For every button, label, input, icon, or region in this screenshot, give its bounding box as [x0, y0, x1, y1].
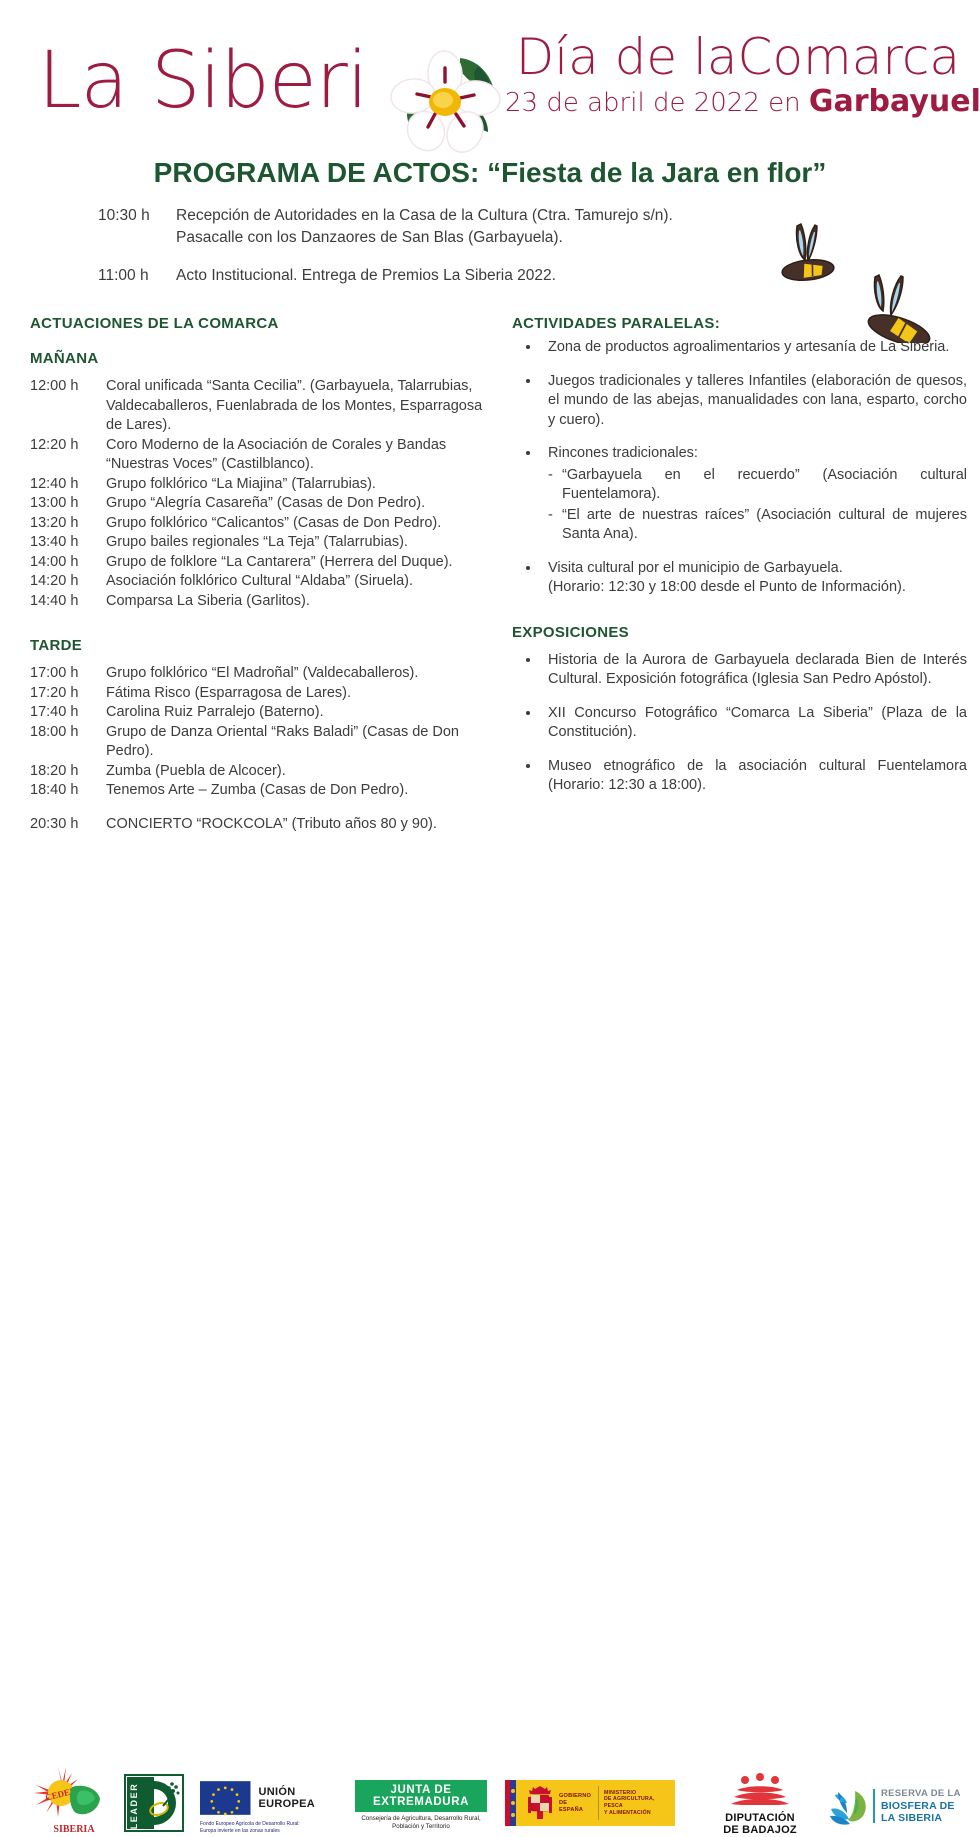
- section-heading-actividades: ACTIVIDADES PARALELAS:: [512, 315, 967, 332]
- schedule-desc: Grupo de folklore “La Cantarera” (Herrer…: [106, 553, 490, 573]
- schedule-time: 10:30 h: [98, 205, 176, 249]
- ministerio-line2: DE AGRICULTURA, PESCA: [604, 1796, 675, 1809]
- dash-icon: -: [548, 506, 553, 526]
- list-item: Juegos tradicionales y talleres Infantil…: [512, 372, 967, 431]
- schedule-row: 12:20 hCoro Moderno de la Asociación de …: [30, 436, 490, 475]
- subsection-heading-morning: MAÑANA: [30, 350, 490, 367]
- subsection-heading-afternoon: TARDE: [30, 637, 490, 654]
- schedule-time: 13:20 h: [30, 514, 106, 534]
- junta-extremadura-logo: JUNTA DE EXTREMADURA Consejería de Agric…: [355, 1780, 487, 1830]
- exhibitions-list: Historia de la Aurora de Garbayuela decl…: [512, 651, 967, 796]
- poster-header: La Siberi: [0, 0, 980, 150]
- schedule-row: 12:40 hGrupo folklórico “La Miajina” (Ta…: [30, 475, 490, 495]
- union-europea-logo: UNIÓN EUROPEA Fondo Europeo Agrícola de …: [200, 1778, 340, 1834]
- schedule-desc: Zumba (Puebla de Alcocer).: [106, 762, 490, 782]
- list-item: Museo etnográfico de la asociación cultu…: [512, 757, 967, 796]
- list-item: Rincones tradicionales: -“Garbayuela en …: [512, 444, 967, 545]
- schedule-row: 13:40 hGrupo bailes regionales “La Teja”…: [30, 533, 490, 553]
- event-date: 23 de abril de 2022 en: [505, 88, 809, 118]
- schedule-time: 12:20 h: [30, 436, 106, 456]
- schedule-time: 17:20 h: [30, 684, 106, 704]
- junta-wordmark: JUNTA DE EXTREMADURA: [355, 1780, 487, 1812]
- biosfera-line3: LA SIBERIA: [881, 1812, 961, 1824]
- ceder-siberia-logo: CEDER SIBERIA: [28, 1765, 106, 1837]
- schedule-time: 17:00 h: [30, 664, 106, 684]
- gobierno-line2: DE ESPAÑA: [559, 1800, 593, 1814]
- top-schedule-row: 10:30 h Recepción de Autoridades en la C…: [98, 205, 738, 249]
- poster: La Siberi: [0, 0, 980, 980]
- list-item-text: XII Concurso Fotográfico “Comarca La Sib…: [548, 705, 967, 741]
- schedule-desc: Coro Moderno de la Asociación de Corales…: [106, 436, 490, 475]
- sublist-rincones: -“Garbayuela en el recuerdo” (Asociación…: [548, 466, 967, 545]
- schedule-desc: Grupo folklórico “Calicantos” (Casas de …: [106, 514, 490, 534]
- ceder-subname: SIBERIA: [53, 1824, 95, 1835]
- list-item: Visita cultural por el municipio de Garb…: [512, 559, 967, 598]
- section-heading-exposiciones: EXPOSICIONES: [512, 624, 967, 641]
- event-town: Garbayuela: [809, 84, 980, 119]
- daisy-flower-icon: [382, 46, 512, 156]
- leader-wordmark: LEADER: [129, 1783, 139, 1830]
- schedule-time: 11:00 h: [98, 265, 176, 287]
- schedule-desc: Pasacalle con los Danzaores de San Blas …: [176, 227, 673, 249]
- diputacion-badajoz-logo: DIPUTACIÓN DE BADAJOZ: [705, 1773, 815, 1835]
- list-item-text: Historia de la Aurora de Garbayuela decl…: [548, 652, 967, 688]
- schedule-time: 18:20 h: [30, 762, 106, 782]
- dash-icon: -: [548, 466, 553, 486]
- schedule-desc: Grupo “Alegría Casareña” (Casas de Don P…: [106, 494, 490, 514]
- schedule-desc: Grupo bailes regionales “La Teja” (Talar…: [106, 533, 490, 553]
- schedule-row: 14:40 hComparsa La Siberia (Garlitos).: [30, 592, 490, 612]
- bullet-icon: [526, 379, 530, 383]
- right-column: ACTIVIDADES PARALELAS: Zona de productos…: [512, 315, 967, 810]
- schedule-time: 12:40 h: [30, 475, 106, 495]
- schedule-time: 14:40 h: [30, 592, 106, 612]
- list-item: Zona de productos agroalimentarios y art…: [512, 338, 967, 358]
- schedule-row-concert: 20:30 hCONCIERTO “ROCKCOLA” (Tributo año…: [30, 815, 490, 835]
- eu-caption-line2: Europa invierte en las zonas rurales: [200, 1828, 340, 1835]
- bullet-icon: [526, 345, 530, 349]
- schedule-desc: CONCIERTO “ROCKCOLA” (Tributo años 80 y …: [106, 815, 490, 835]
- left-column: ACTUACIONES DE LA COMARCA MAÑANA 12:00 h…: [30, 315, 490, 834]
- biosfera-emblem-icon: [825, 1783, 871, 1829]
- schedule-desc: Grupo folklórico “El Madroñal” (Valdecab…: [106, 664, 490, 684]
- schedule-time: 14:00 h: [30, 553, 106, 573]
- schedule-row: 13:00 hGrupo “Alegría Casareña” (Casas d…: [30, 494, 490, 514]
- sublist-item: -“Garbayuela en el recuerdo” (Asociación…: [548, 466, 967, 505]
- event-date-line: 23 de abril de 2022 en Garbayuela: [505, 86, 960, 119]
- list-item-text: Juegos tradicionales y talleres Infantil…: [548, 373, 967, 428]
- brand-name: La Siberi: [38, 42, 367, 120]
- eu-flag-icon: [200, 1778, 251, 1818]
- schedule-row: 17:40 hCarolina Ruiz Parralejo (Baterno)…: [30, 703, 490, 723]
- schedule-row: 18:20 hZumba (Puebla de Alcocer).: [30, 762, 490, 782]
- sublist-item-text: “El arte de nuestras raíces” (Asociación…: [562, 507, 967, 543]
- ministerio-line3: Y ALIMENTACIÓN: [604, 1810, 675, 1817]
- list-item: Historia de la Aurora de Garbayuela decl…: [512, 651, 967, 690]
- list-item-text: Rincones tradicionales:: [548, 445, 698, 461]
- schedule-row: 13:20 hGrupo folklórico “Calicantos” (Ca…: [30, 514, 490, 534]
- bullet-icon: [526, 711, 530, 715]
- footer-logos: CEDER SIBERIA LEADER: [0, 880, 980, 980]
- schedule-time: 20:30 h: [30, 815, 106, 835]
- diputacion-emblem-icon: [705, 1773, 815, 1805]
- gobierno-espana-logo: GOBIERNO DE ESPAÑA MINISTERIO DE AGRICUL…: [505, 1780, 675, 1828]
- top-schedule-row: 11:00 h Acto Institucional. Entrega de P…: [98, 265, 738, 287]
- schedule-row: 17:00 hGrupo folklórico “El Madroñal” (V…: [30, 664, 490, 684]
- parallel-activities-list: Zona de productos agroalimentarios y art…: [512, 338, 967, 598]
- event-header: Día de laComarca 23 de abril de 2022 en …: [505, 30, 960, 140]
- list-item-text: Visita cultural por el municipio de Garb…: [548, 560, 843, 576]
- brand-logo: La Siberi: [30, 24, 500, 134]
- list-item-text-secondary: (Horario: 12:30 y 18:00 desde el Punto d…: [548, 579, 906, 595]
- schedule-row: 12:00 hCoral unificada “Santa Cecilia”. …: [30, 377, 490, 436]
- schedule-time: 12:00 h: [30, 377, 106, 397]
- afternoon-schedule: 17:00 hGrupo folklórico “El Madroñal” (V…: [30, 664, 490, 834]
- biosfera-line1: RESERVA DE LA: [881, 1788, 961, 1800]
- schedule-desc: Fátima Risco (Esparragosa de Lares).: [106, 684, 490, 704]
- leader-logo: LEADER: [123, 1773, 185, 1833]
- bullet-icon: [526, 764, 530, 768]
- schedule-desc: Grupo folklórico “La Miajina” (Talarrubi…: [106, 475, 490, 495]
- schedule-time: 18:40 h: [30, 781, 106, 801]
- list-item-text: Museo etnográfico de la asociación cultu…: [548, 758, 967, 794]
- ministerio-line1: MINISTERIO: [604, 1790, 675, 1797]
- schedule-row: 17:20 hFátima Risco (Esparragosa de Lare…: [30, 684, 490, 704]
- spain-coat-of-arms-icon: [525, 1783, 555, 1823]
- schedule-time: 18:00 h: [30, 723, 106, 743]
- list-item: XII Concurso Fotográfico “Comarca La Sib…: [512, 704, 967, 743]
- bullet-icon: [526, 451, 530, 455]
- schedule-desc: Coral unificada “Santa Cecilia”. (Garbay…: [106, 377, 490, 436]
- divider: [873, 1789, 875, 1823]
- morning-schedule: 12:00 hCoral unificada “Santa Cecilia”. …: [30, 377, 490, 611]
- list-item-text: Zona de productos agroalimentarios y art…: [548, 339, 949, 355]
- program-title: PROGRAMA DE ACTOS: “Fiesta de la Jara en…: [0, 157, 980, 189]
- schedule-desc: Acto Institucional. Entrega de Premios L…: [176, 265, 556, 287]
- schedule-desc: Grupo de Danza Oriental “Raks Baladi” (C…: [106, 723, 490, 762]
- schedule-row: 14:20 hAsociación folklórico Cultural “A…: [30, 572, 490, 592]
- schedule-time: 17:40 h: [30, 703, 106, 723]
- spain-flag-icon: [505, 1780, 525, 1826]
- schedule-row: 14:00 hGrupo de folklore “La Cantarera” …: [30, 553, 490, 573]
- schedule-desc: Recepción de Autoridades en la Casa de l…: [176, 205, 673, 227]
- schedule-desc: Carolina Ruiz Parralejo (Baterno).: [106, 703, 490, 723]
- junta-caption-line1: Consejería de Agricultura, Desarrollo Ru…: [355, 1815, 487, 1823]
- sublist-item: -“El arte de nuestras raíces” (Asociació…: [548, 506, 967, 545]
- diputacion-line2: DE BADAJOZ: [705, 1824, 815, 1836]
- bee-icon: [781, 224, 835, 283]
- event-title: Día de laComarca: [505, 30, 960, 84]
- schedule-desc: Asociación folklórico Cultural “Aldaba” …: [106, 572, 490, 592]
- schedule-time: 13:40 h: [30, 533, 106, 553]
- junta-caption-line2: Población y Territorio: [355, 1823, 487, 1831]
- schedule-desc: Comparsa La Siberia (Garlitos).: [106, 592, 490, 612]
- divider: [598, 1786, 599, 1820]
- schedule-row: 18:40 hTenemos Arte – Zumba (Casas de Do…: [30, 781, 490, 801]
- eu-wordmark: UNIÓN EUROPEA: [259, 1786, 341, 1810]
- sublist-item-text: “Garbayuela en el recuerdo” (Asociación …: [562, 467, 967, 503]
- gobierno-line1: GOBIERNO: [559, 1793, 593, 1800]
- section-heading-actuaciones: ACTUACIONES DE LA COMARCA: [30, 315, 490, 332]
- schedule-row: 18:00 hGrupo de Danza Oriental “Raks Bal…: [30, 723, 490, 762]
- diputacion-line1: DIPUTACIÓN: [705, 1812, 815, 1824]
- biosfera-line2: BIOSFERA DE: [881, 1800, 961, 1812]
- schedule-desc: Tenemos Arte – Zumba (Casas de Don Pedro…: [106, 781, 490, 801]
- top-schedule: 10:30 h Recepción de Autoridades en la C…: [98, 205, 738, 289]
- bullet-icon: [526, 658, 530, 662]
- reserva-biosfera-logo: RESERVA DE LA BIOSFERA DE LA SIBERIA: [825, 1778, 965, 1834]
- bullet-icon: [526, 566, 530, 570]
- schedule-time: 14:20 h: [30, 572, 106, 592]
- schedule-time: 13:00 h: [30, 494, 106, 514]
